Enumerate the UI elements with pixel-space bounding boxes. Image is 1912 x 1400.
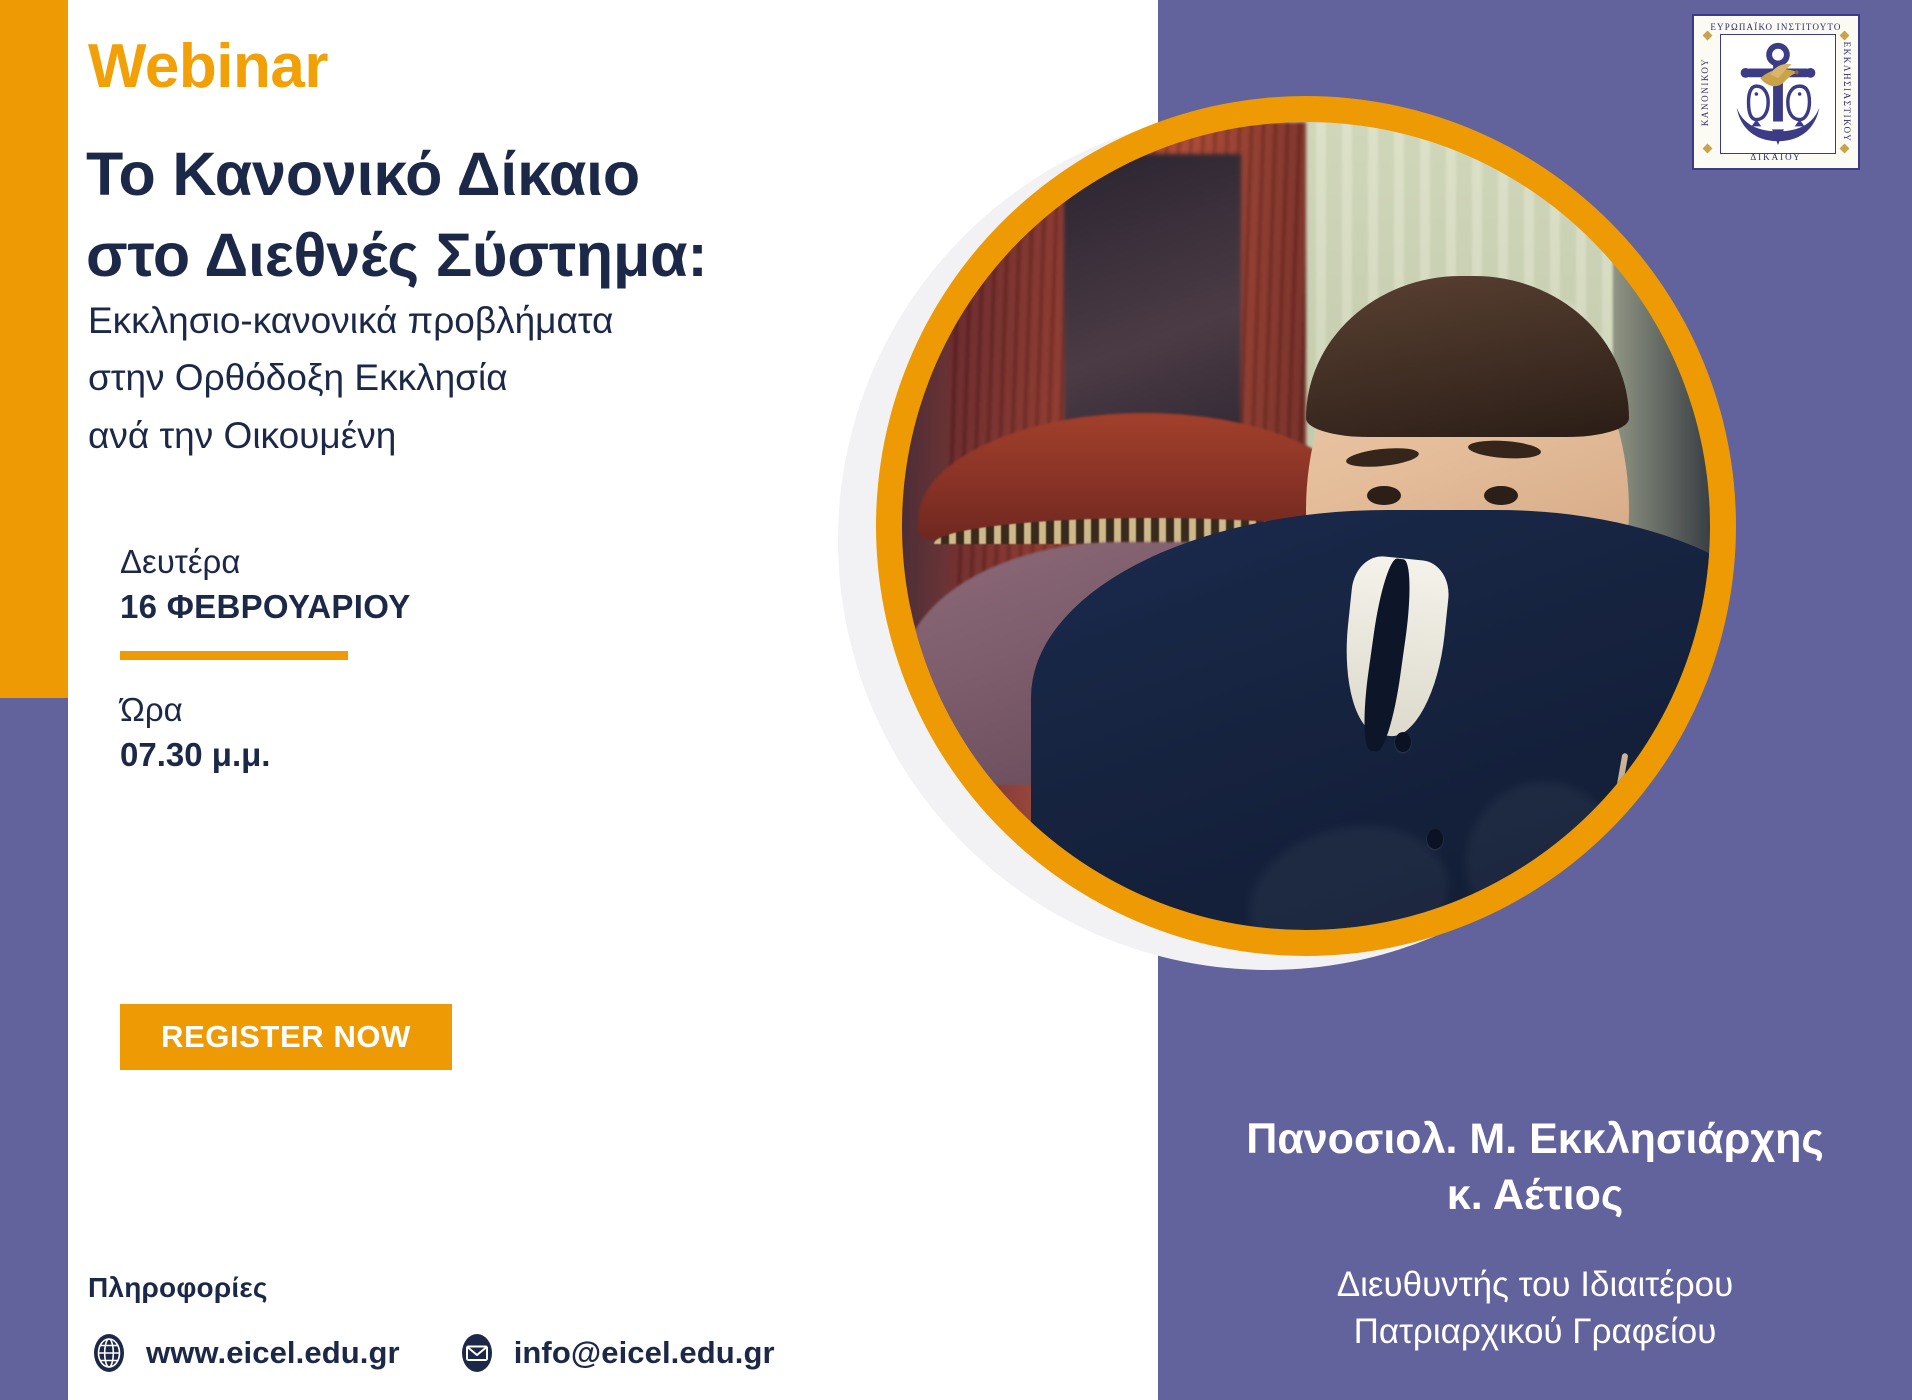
headline-line-1: Το Κανονικό Δίκαιο <box>86 134 906 215</box>
logo-right-text: ΕΚΚΛΗΣΙΑΣΤΙΚΟΥ <box>1842 42 1852 143</box>
schedule-divider <box>120 651 348 660</box>
logo-top-text: ΕΥΡΩΠΑΪΚΟ ΙΝΣΤΙΤΟΥΤΟ <box>1710 22 1841 32</box>
logo-left-text: ΚΑΝΟΝΙΚΟΥ <box>1700 58 1710 126</box>
schedule-time-value: 07.30 μ.μ. <box>120 733 411 778</box>
anchor-dove-fish-icon <box>1721 35 1835 153</box>
logo-inner: ΕΥΡΩΠΑΪΚΟ ΙΝΣΤΙΤΟΥΤΟ ΚΑΝΟΝΙΚΟΥ ΕΚΚΛΗΣΙΑΣ… <box>1694 16 1858 168</box>
speaker-name: Πανοσιολ. Μ. Εκκλησιάρχης κ. Αέτιος <box>1170 1112 1900 1224</box>
headline-line-2: στο Διεθνές Σύστημα: <box>86 215 906 296</box>
contact-heading: Πληροφορίες <box>88 1272 268 1304</box>
envelope-icon <box>456 1332 498 1374</box>
photo-cassock-fold <box>1234 806 1464 930</box>
subhead-line-3: ανά την Οικουμένη <box>88 407 788 464</box>
photo-eye-right <box>1484 486 1518 505</box>
speaker-role-line-2: Πατριαρχικού Γραφείου <box>1170 1309 1900 1356</box>
register-now-button[interactable]: REGISTER NOW <box>120 1004 452 1070</box>
speaker-role: Διευθυντής του Ιδιαιτέρου Πατριαρχικού Γ… <box>1170 1262 1900 1356</box>
email-text: info@eicel.edu.gr <box>514 1335 775 1371</box>
logo-diamond-ornament <box>1840 144 1850 154</box>
institute-logo: ΕΥΡΩΠΑΪΚΟ ΙΝΣΤΙΤΟΥΤΟ ΚΑΝΟΝΙΚΟΥ ΕΚΚΛΗΣΙΑΣ… <box>1692 14 1860 170</box>
logo-diamond-ornament <box>1703 144 1713 154</box>
schedule-block: Δευτέρα 16 ΦΕΒΡΟΥΑΡΙΟΥ Ώρα 07.30 μ.μ. <box>120 540 411 777</box>
subhead-line-1: Εκκλησιο-κανονικά προβλήματα <box>88 292 788 349</box>
globe-icon <box>88 1332 130 1374</box>
schedule-date: 16 ΦΕΒΡΟΥΑΡΙΟΥ <box>120 585 411 630</box>
webinar-poster: Webinar Το Κανονικό Δίκαιο στο Διεθνές Σ… <box>0 0 1912 1400</box>
logo-diamond-ornament <box>1703 31 1713 41</box>
speaker-portrait <box>876 96 1736 956</box>
website-text: www.eicel.edu.gr <box>146 1335 400 1371</box>
left-accent-bar-purple <box>0 698 68 1400</box>
website-contact[interactable]: www.eicel.edu.gr <box>88 1332 400 1374</box>
logo-emblem-frame <box>1720 34 1836 154</box>
schedule-day-label: Δευτέρα <box>120 540 411 585</box>
page-title: Το Κανονικό Δίκαιο στο Διεθνές Σύστημα: <box>86 134 906 295</box>
contact-row: www.eicel.edu.gr info@eicel.edu.gr <box>88 1332 809 1374</box>
subhead-line-2: στην Ορθόδοξη Εκκλησία <box>88 349 788 406</box>
schedule-time-label: Ώρα <box>120 688 411 733</box>
photo-cassock-button <box>1395 732 1411 752</box>
speaker-name-line-1: Πανοσιολ. Μ. Εκκλησιάρχης <box>1170 1112 1900 1168</box>
speaker-name-line-2: κ. Αέτιος <box>1170 1168 1900 1224</box>
email-contact[interactable]: info@eicel.edu.gr <box>456 1332 775 1374</box>
photo-eye-left <box>1367 486 1401 505</box>
page-subtitle: Εκκλησιο-κανονικά προβλήματα στην Ορθόδο… <box>88 292 788 464</box>
portrait-photo <box>902 122 1710 930</box>
speaker-role-line-1: Διευθυντής του Ιδιαιτέρου <box>1170 1262 1900 1309</box>
left-accent-bar-orange <box>0 0 68 698</box>
logo-diamond-ornament <box>1840 31 1850 41</box>
kicker-webinar: Webinar <box>88 36 328 98</box>
